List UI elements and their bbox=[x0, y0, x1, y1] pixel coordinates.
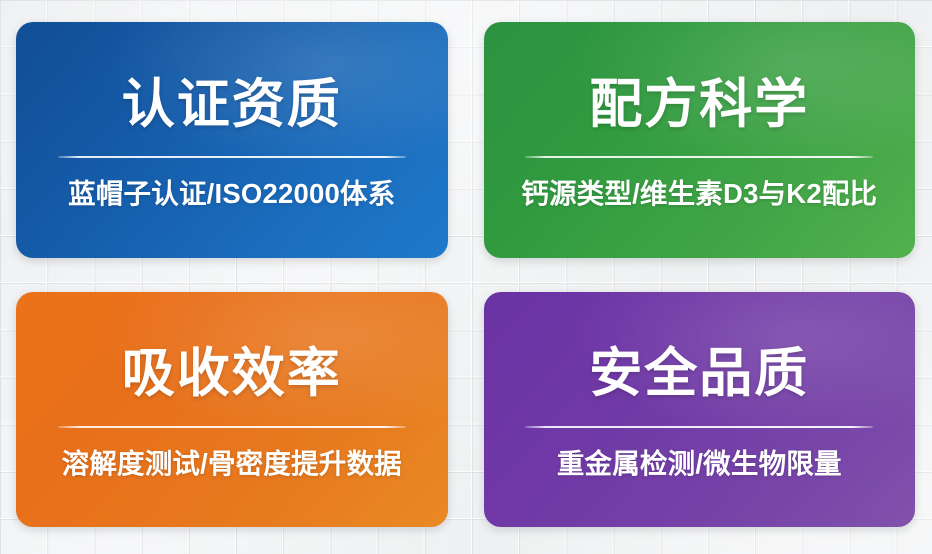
card-divider bbox=[58, 156, 406, 158]
card-subtitle: 蓝帽子认证/ISO22000体系 bbox=[68, 177, 395, 211]
card-subtitle: 钙源类型/维生素D3与K2配比 bbox=[521, 177, 877, 211]
card-divider bbox=[58, 426, 406, 428]
feature-card-formula-science[interactable]: 配方科学 钙源类型/维生素D3与K2配比 bbox=[484, 22, 916, 258]
feature-card-absorption-efficiency[interactable]: 吸收效率 溶解度测试/骨密度提升数据 bbox=[16, 292, 448, 528]
card-subtitle: 溶解度测试/骨密度提升数据 bbox=[62, 447, 402, 481]
card-content: 安全品质 重金属检测/微生物限量 bbox=[484, 338, 916, 480]
card-content: 吸收效率 溶解度测试/骨密度提升数据 bbox=[16, 338, 448, 480]
feature-card-safety-quality[interactable]: 安全品质 重金属检测/微生物限量 bbox=[484, 292, 916, 528]
card-title: 配方科学 bbox=[589, 77, 809, 132]
card-content: 认证资质 蓝帽子认证/ISO22000体系 bbox=[16, 69, 448, 211]
card-divider bbox=[525, 426, 873, 428]
feature-card-certification[interactable]: 认证资质 蓝帽子认证/ISO22000体系 bbox=[16, 22, 448, 258]
card-divider bbox=[525, 156, 873, 158]
card-title: 认证资质 bbox=[122, 77, 342, 132]
card-subtitle: 重金属检测/微生物限量 bbox=[557, 447, 842, 481]
card-title: 吸收效率 bbox=[122, 346, 342, 401]
feature-card-grid: 认证资质 蓝帽子认证/ISO22000体系 配方科学 钙源类型/维生素D3与K2… bbox=[0, 0, 932, 554]
card-title: 安全品质 bbox=[589, 346, 809, 401]
page-root: 认证资质 蓝帽子认证/ISO22000体系 配方科学 钙源类型/维生素D3与K2… bbox=[0, 0, 932, 554]
card-content: 配方科学 钙源类型/维生素D3与K2配比 bbox=[484, 69, 916, 211]
